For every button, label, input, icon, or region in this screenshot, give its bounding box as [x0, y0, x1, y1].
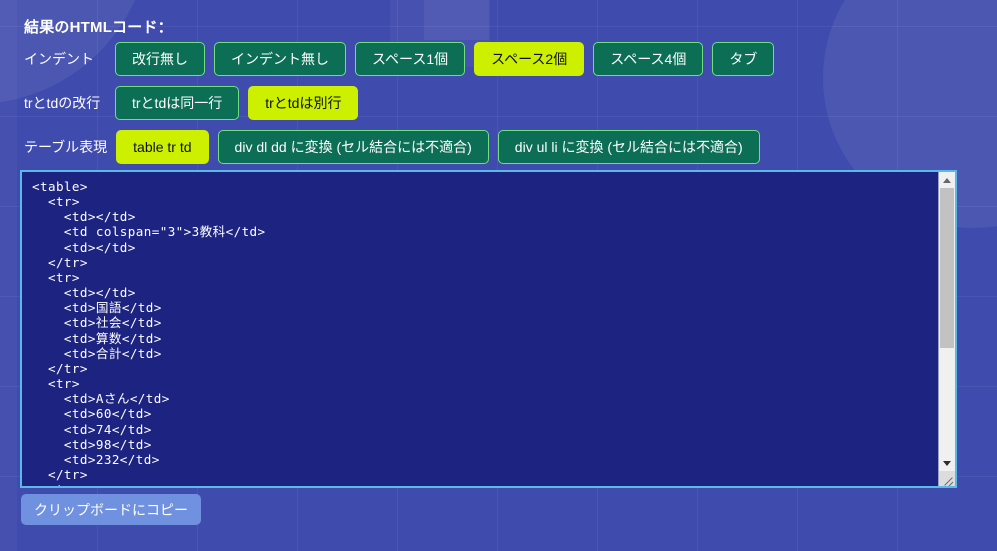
indent-button-no-indent[interactable]: インデント無し — [214, 42, 346, 76]
linebreak-button-separate-line[interactable]: trとtdは別行 — [248, 86, 358, 120]
option-row-linebreak-label: trとtdの改行 — [24, 93, 106, 113]
linebreak-button-same-line[interactable]: trとtdは同一行 — [115, 86, 239, 120]
table-style-button-table-tr-td[interactable]: table tr td — [116, 130, 208, 164]
scroll-up-arrow-icon[interactable] — [939, 172, 955, 188]
indent-button-space-1[interactable]: スペース1個 — [355, 42, 465, 76]
option-row-indent-label: インデント — [24, 49, 106, 69]
indent-button-tab[interactable]: タブ — [712, 42, 774, 76]
scrollbar-thumb[interactable] — [940, 188, 954, 348]
app-root: 結果のHTMLコード： インデント 改行無し インデント無し スペース1個 スペ… — [0, 0, 997, 551]
option-row-table-style-label: テーブル表現 — [24, 137, 107, 157]
table-style-button-div-dl-dd[interactable]: div dl dd に変換 (セル結合には不適合) — [218, 130, 489, 164]
page-title: 結果のHTMLコード： — [24, 16, 173, 37]
option-row-table-style: テーブル表現 table tr td div dl dd に変換 (セル結合には… — [24, 130, 760, 164]
option-row-indent: インデント 改行無し インデント無し スペース1個 スペース2個 スペース4個 … — [24, 42, 774, 76]
resize-grip-icon[interactable] — [939, 471, 955, 486]
code-output-text[interactable]: <table> <tr> <td></td> <td colspan="3">3… — [22, 172, 938, 486]
indent-button-no-linebreak[interactable]: 改行無し — [115, 42, 205, 76]
indent-button-space-2[interactable]: スペース2個 — [474, 42, 584, 76]
table-style-button-div-ul-li[interactable]: div ul li に変換 (セル結合には不適合) — [498, 130, 760, 164]
background-left-panel — [0, 0, 17, 551]
copy-to-clipboard-button[interactable]: クリップボードにコピー — [21, 494, 201, 525]
code-output-textarea[interactable]: <table> <tr> <td></td> <td colspan="3">3… — [20, 170, 957, 488]
code-scrollbar[interactable] — [938, 172, 955, 486]
background-decor-strip-inner — [424, 0, 489, 40]
option-row-linebreak: trとtdの改行 trとtdは同一行 trとtdは別行 — [24, 86, 358, 120]
scroll-down-arrow-icon[interactable] — [939, 455, 955, 471]
scrollbar-track[interactable] — [939, 188, 955, 455]
indent-button-space-4[interactable]: スペース4個 — [593, 42, 703, 76]
